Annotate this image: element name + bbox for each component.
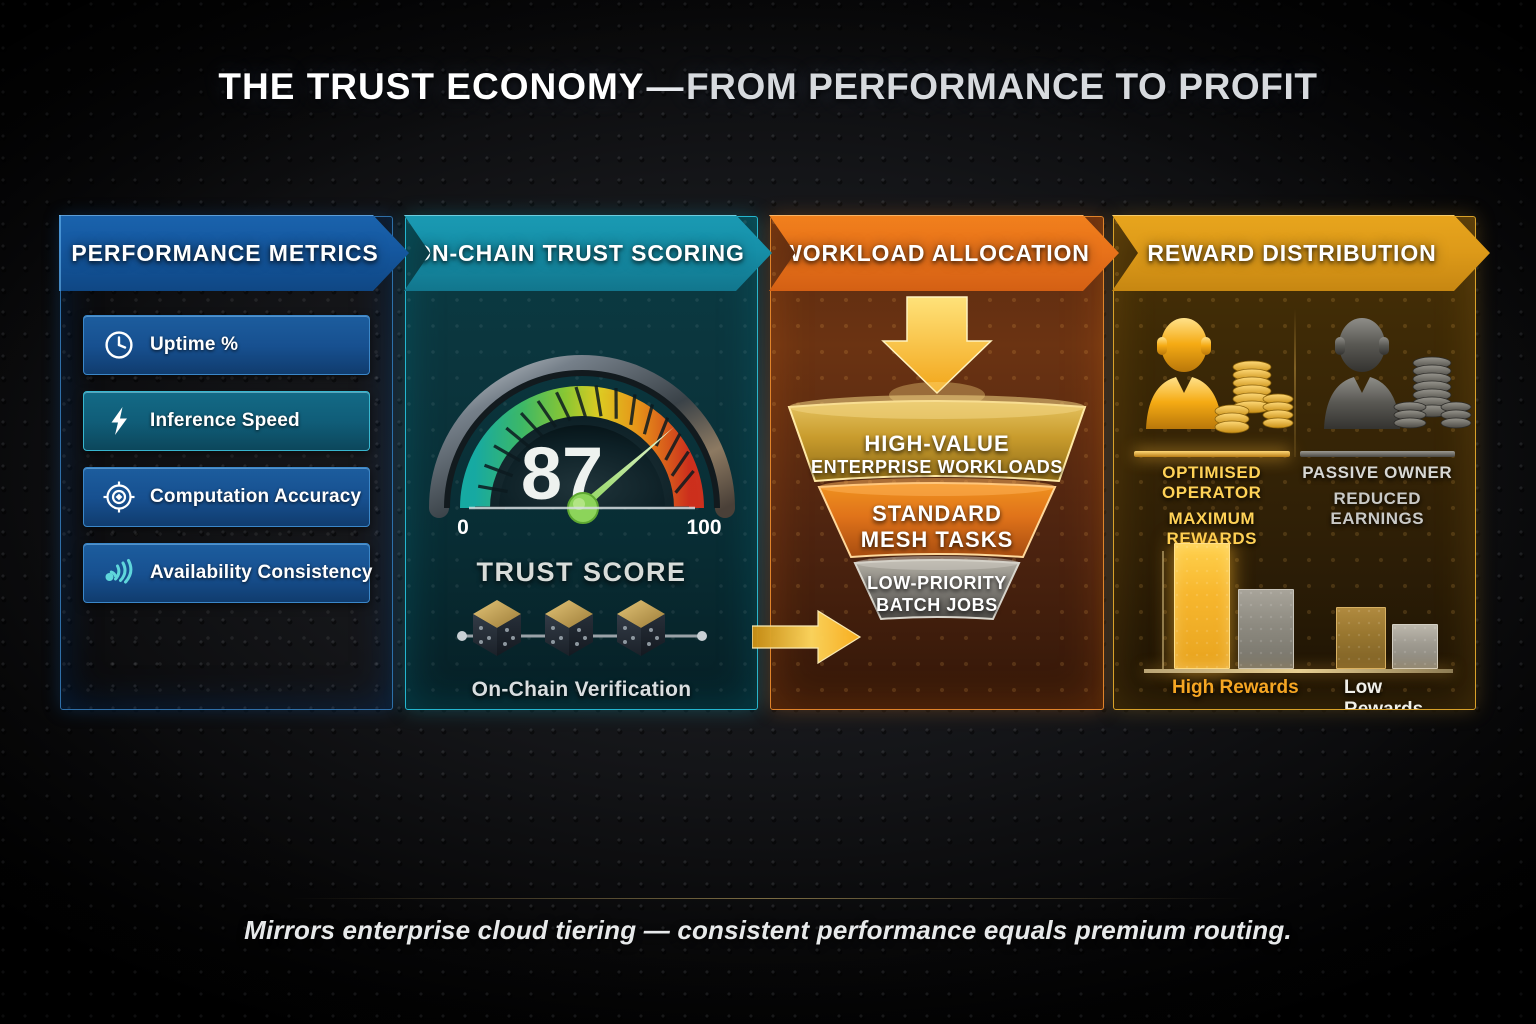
metric-chip-label: Availability Consistency	[150, 562, 373, 584]
panel-reward-distribution: OPTIMISED OPERATOR MAXIMUM REWARDS PASSI…	[1113, 216, 1476, 710]
panel-on-chain-trust-scoring: 87 0 100 TRUST SCORE	[405, 216, 758, 710]
chart-tick-labels: High Rewards Low Rewards	[1144, 677, 1453, 705]
trust-score-label: TRUST SCORE	[476, 557, 686, 588]
funnel-tier-2	[819, 478, 1055, 557]
persona-captions: OPTIMISED OPERATOR MAXIMUM REWARDS PASSI…	[1130, 463, 1459, 525]
metric-chip-list: Uptime % Inference Speed	[83, 315, 370, 603]
persona-shelf-gray	[1300, 451, 1456, 457]
bar-high-rewards-operator	[1174, 543, 1230, 669]
operator-gray-icon	[1310, 311, 1477, 441]
panel-header-label: REWARD DISTRIBUTION	[1139, 240, 1462, 267]
metric-chip-computation-accuracy[interactable]: Computation Accuracy	[83, 467, 370, 527]
chart-y-axis	[1162, 551, 1164, 669]
blockchain-cube-icon	[457, 592, 707, 668]
signal-waves-icon	[102, 556, 136, 590]
panel-header-label: ON-CHAIN TRUST SCORING	[405, 240, 771, 267]
persona-subtitle: REDUCED EARNINGS	[1296, 489, 1460, 529]
footer-caption: Mirrors enterprise cloud tiering — consi…	[0, 915, 1536, 946]
chart-tick-high-rewards: High Rewards	[1172, 677, 1299, 699]
gauge-dial-icon: 87 0 100	[417, 303, 747, 553]
chart-tick-low-rewards: Low Rewards	[1344, 677, 1453, 710]
panel-header-performance-metrics: PERFORMANCE METRICS	[59, 215, 409, 291]
gauge-max-text: 100	[686, 516, 721, 539]
persona-passive-owner	[1296, 309, 1460, 457]
clock-icon	[102, 328, 136, 362]
persona-shelf-gold	[1134, 451, 1290, 457]
reward-bar-chart	[1144, 539, 1453, 675]
persona-caption-owner: PASSIVE OWNER REDUCED EARNINGS	[1296, 463, 1460, 525]
bar-high-rewards-owner	[1238, 589, 1294, 669]
panel-header-label: WORKLOAD ALLOCATION	[772, 240, 1116, 267]
metric-chip-label: Computation Accuracy	[150, 486, 361, 508]
metric-chip-label: Inference Speed	[150, 410, 300, 432]
persona-caption-operator: OPTIMISED OPERATOR MAXIMUM REWARDS	[1130, 463, 1294, 525]
page-title-strong: THE TRUST ECONOMY	[218, 66, 644, 107]
panel-header-on-chain-trust-scoring: ON-CHAIN TRUST SCORING	[404, 215, 772, 291]
persona-row	[1130, 309, 1459, 457]
chart-baseline	[1144, 669, 1453, 673]
panels-row: Uptime % Inference Speed	[60, 216, 1476, 710]
lightning-bolt-icon	[102, 404, 136, 438]
metric-chip-inference-speed[interactable]: Inference Speed	[83, 391, 370, 451]
metric-chip-uptime[interactable]: Uptime %	[83, 315, 370, 375]
panel-header-label: PERFORMANCE METRICS	[63, 240, 404, 267]
infographic-stage: THE TRUST ECONOMY—FROM PERFORMANCE TO PR…	[0, 0, 1536, 1024]
trust-gauge: 87 0 100 TRUST SCORE	[406, 303, 757, 702]
on-chain-verification-label: On-Chain Verification	[472, 678, 692, 702]
funnel-tier-1	[789, 395, 1085, 481]
funnel-graphic	[777, 295, 1097, 625]
footer-divider	[290, 898, 1246, 899]
panel-header-reward-distribution: REWARD DISTRIBUTION	[1112, 215, 1490, 291]
metric-chip-availability-consistency[interactable]: Availability Consistency	[83, 543, 370, 603]
persona-title: PASSIVE OWNER	[1296, 463, 1460, 483]
panel-performance-metrics: Uptime % Inference Speed	[60, 216, 393, 710]
down-arrow-icon	[883, 297, 991, 408]
panel-header-workload-allocation: WORKLOAD ALLOCATION	[769, 215, 1119, 291]
page-title-rest: FROM PERFORMANCE TO PROFIT	[686, 66, 1318, 107]
bar-low-rewards-operator	[1336, 607, 1386, 669]
persona-title: OPTIMISED OPERATOR	[1130, 463, 1294, 503]
gauge-min-text: 0	[457, 516, 469, 539]
flow-arrow-icon	[752, 609, 862, 665]
page-title: THE TRUST ECONOMY—FROM PERFORMANCE TO PR…	[0, 66, 1536, 108]
operator-gold-icon	[1132, 311, 1302, 441]
page-title-dash: —	[644, 66, 686, 107]
metric-chip-label: Uptime %	[150, 334, 238, 356]
funnel-tier-3	[855, 556, 1019, 619]
bar-low-rewards-owner	[1392, 624, 1438, 669]
persona-optimised-operator	[1130, 309, 1294, 457]
crosshair-target-icon	[102, 480, 136, 514]
workload-funnel: HIGH-VALUE ENTERPRISE WORKLOADS STANDARD…	[771, 295, 1103, 625]
